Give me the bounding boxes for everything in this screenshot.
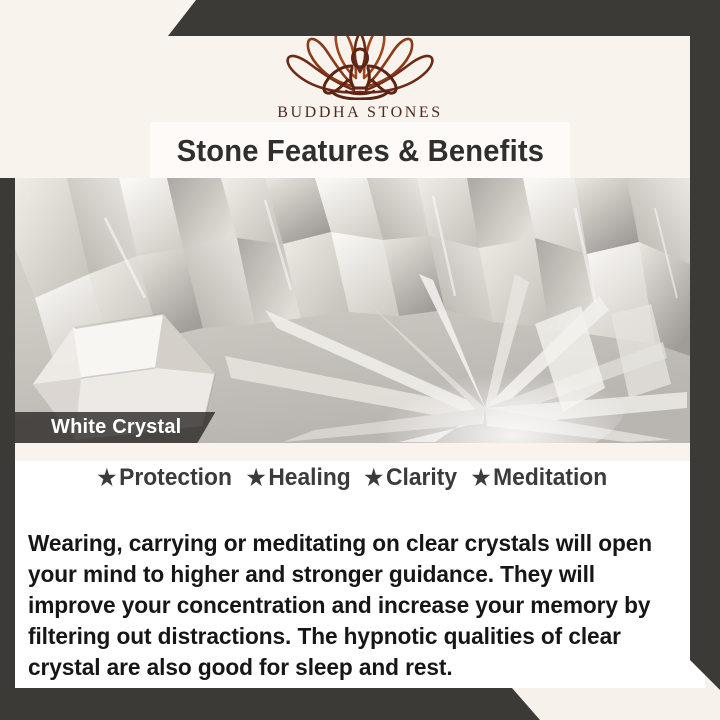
benefit-item-healing: ★Healing [247, 464, 351, 492]
star-icon: ★ [364, 465, 383, 490]
star-icon: ★ [247, 465, 266, 490]
benefit-item-meditation: ★Meditation [472, 464, 608, 492]
benefits-list: ★Protection ★Healing ★Clarity ★Meditatio… [15, 464, 690, 492]
title-plaque: Stone Features & Benefits [150, 122, 570, 179]
benefit-label: Protection [119, 464, 232, 491]
white-crystal-cluster-photo [15, 178, 690, 443]
benefit-item-clarity: ★Clarity [364, 464, 457, 492]
frame-left [0, 178, 15, 720]
benefit-label: Clarity [386, 464, 457, 491]
stone-name-label: White Crystal [51, 416, 181, 439]
benefit-label: Healing [269, 464, 351, 491]
content-divider-strip [15, 443, 720, 461]
brand-wordmark: BUDDHA STONES [0, 104, 720, 122]
star-icon: ★ [472, 465, 491, 490]
brand-logo: BUDDHA STONES [0, 22, 720, 122]
hero-image: White Crystal [15, 178, 690, 443]
hero-caption-ribbon: White Crystal [15, 412, 215, 443]
infographic-card: BUDDHA STONES Stone Features & Benefits [0, 0, 720, 720]
frame-right [690, 0, 720, 690]
star-icon: ★ [98, 465, 117, 490]
benefit-item-protection: ★Protection [98, 464, 232, 492]
benefit-label: Meditation [493, 464, 607, 491]
page-title: Stone Features & Benefits [176, 133, 543, 169]
frame-bottom [0, 688, 560, 720]
description-paragraph: Wearing, carrying or meditating on clear… [28, 528, 673, 683]
